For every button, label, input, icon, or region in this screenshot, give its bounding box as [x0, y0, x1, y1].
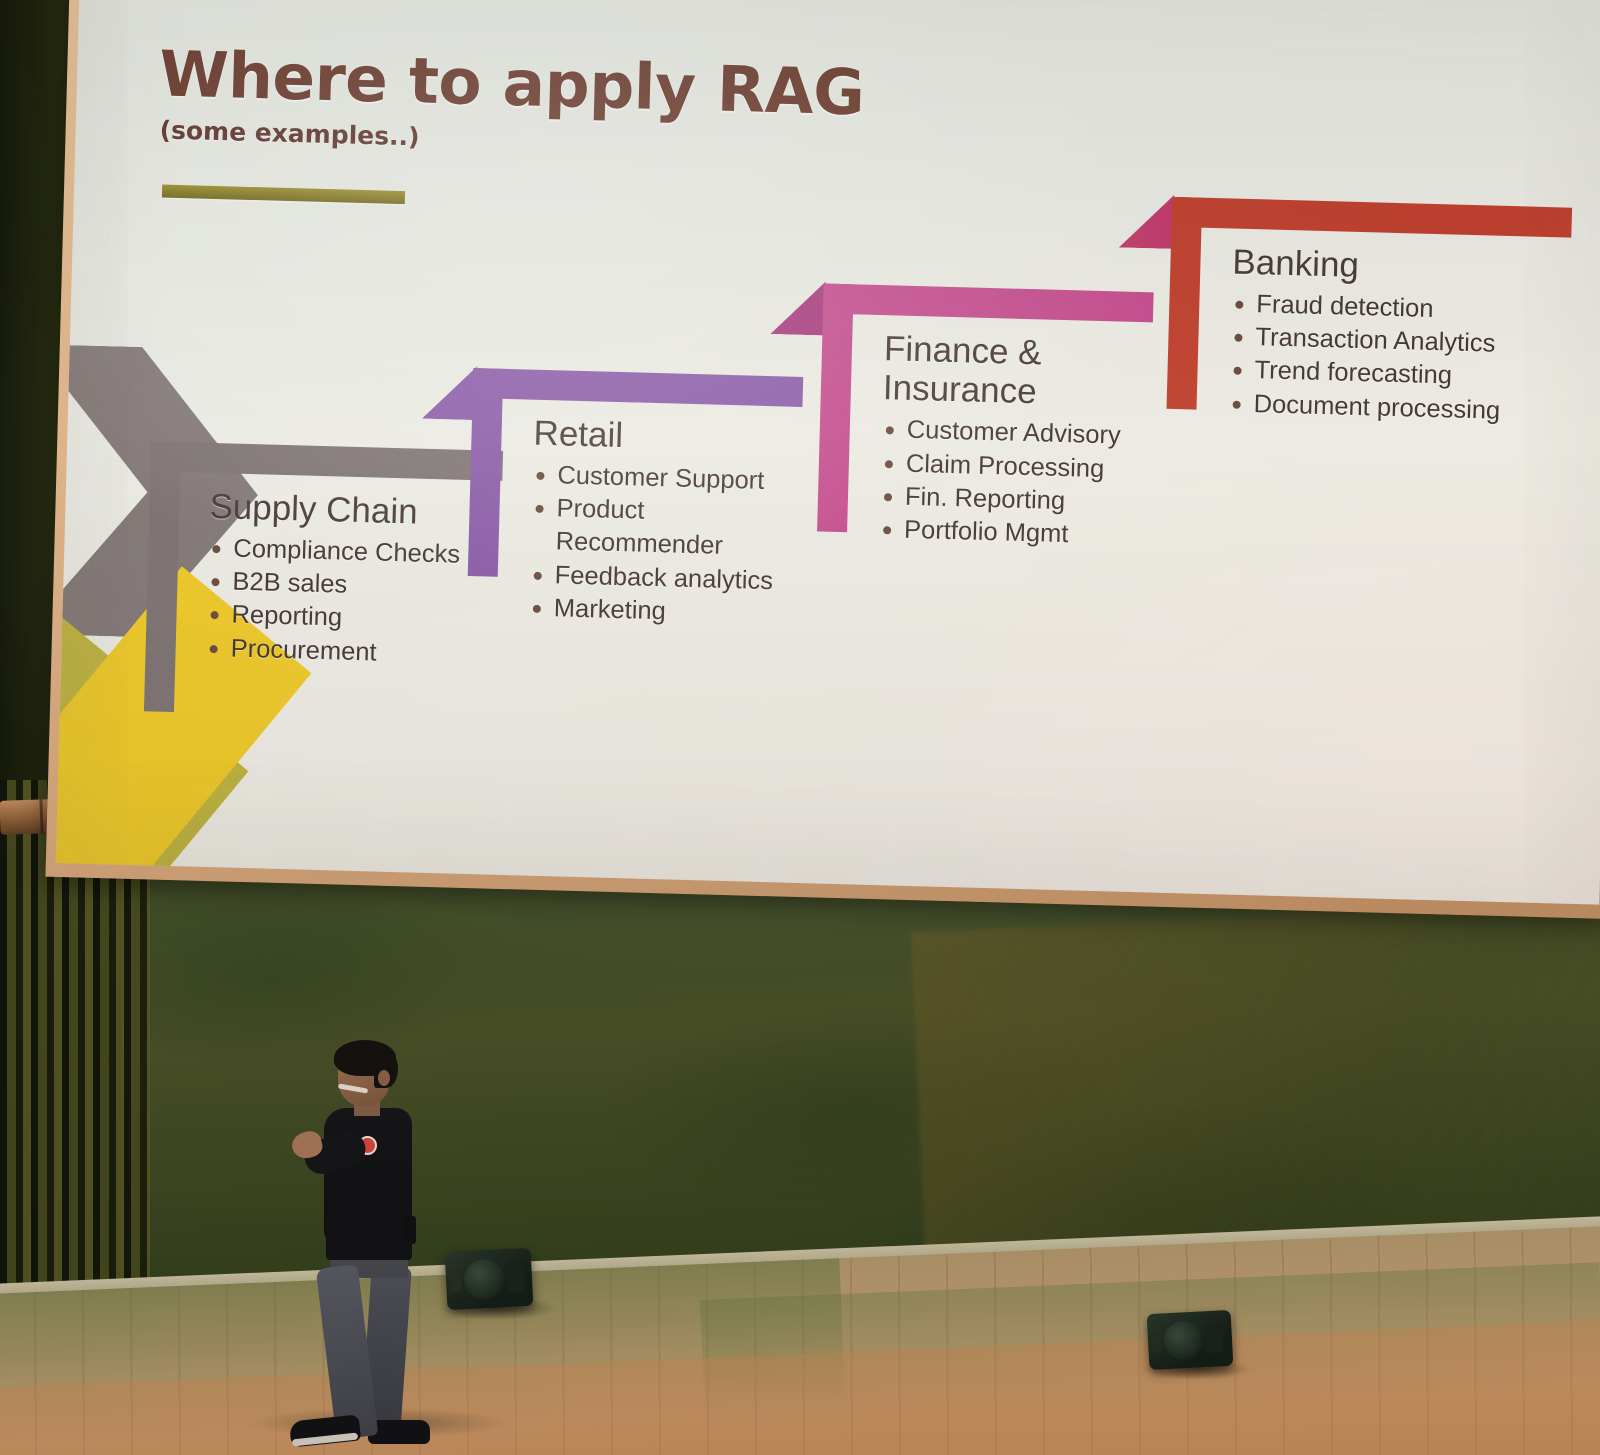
step-body: Banking Fraud detection Transaction Anal…: [1228, 243, 1593, 430]
step-bar-horizontal: [473, 368, 804, 407]
slide-content: Where to apply RAG (some examples..) Sup…: [56, 0, 1600, 905]
presenter-torso-lower: [326, 1190, 412, 1260]
screen-surface: Where to apply RAG (some examples..) Sup…: [56, 0, 1600, 905]
step-triangle-accent: [422, 365, 477, 420]
page-subtitle: (some examples..): [159, 115, 420, 151]
step-banking: Banking Fraud detection Transaction Anal…: [1172, 197, 1600, 209]
step-bar-horizontal: [823, 283, 1154, 322]
speaker-horn: [1204, 1324, 1223, 1353]
projection-screen: Where to apply RAG (some examples..) Sup…: [45, 0, 1600, 919]
step-title: Retail: [533, 414, 864, 462]
list-item: Product Recommender: [530, 492, 862, 567]
step-title: Supply Chain: [209, 487, 560, 536]
stage-monitor-speaker-right: [1147, 1310, 1234, 1370]
step-item-list: Customer Advisory Claim Processing Fin. …: [879, 413, 1222, 555]
presenter: [282, 1040, 432, 1440]
speaker-horn: [505, 1262, 525, 1293]
step-item-list: Compliance Checks B2B sales Reporting Pr…: [205, 532, 558, 674]
presenter-shoe: [368, 1420, 430, 1444]
presenter-belt-pack: [402, 1216, 416, 1244]
page-title: Where to apply RAG: [158, 37, 865, 129]
step-bar-horizontal: [1171, 197, 1572, 238]
presenter-ear: [378, 1070, 390, 1086]
step-supply-chain: Supply Chain Compliance Checks B2B sales…: [151, 441, 571, 452]
step-body: Retail Customer Support Product Recommen…: [528, 414, 864, 634]
step-item-list: Customer Support Product Recommender Fee…: [528, 459, 862, 634]
speaker-handle: [1152, 1332, 1163, 1351]
conference-stage-photo: Where to apply RAG (some examples..) Sup…: [0, 0, 1600, 1455]
stage-monitor-speaker-left: [445, 1248, 534, 1310]
title-underline-rule: [162, 185, 405, 205]
step-bar-vertical: [1167, 197, 1203, 410]
step-triangle-accent: [770, 280, 825, 335]
step-body: Supply Chain Compliance Checks B2B sales…: [205, 487, 560, 674]
step-bar-vertical: [468, 368, 504, 577]
step-title: Banking: [1232, 243, 1593, 292]
step-item-list: Fraud detection Transaction Analytics Tr…: [1228, 288, 1591, 430]
speaker-handle: [450, 1271, 462, 1292]
step-triangle-accent: [1119, 193, 1174, 248]
